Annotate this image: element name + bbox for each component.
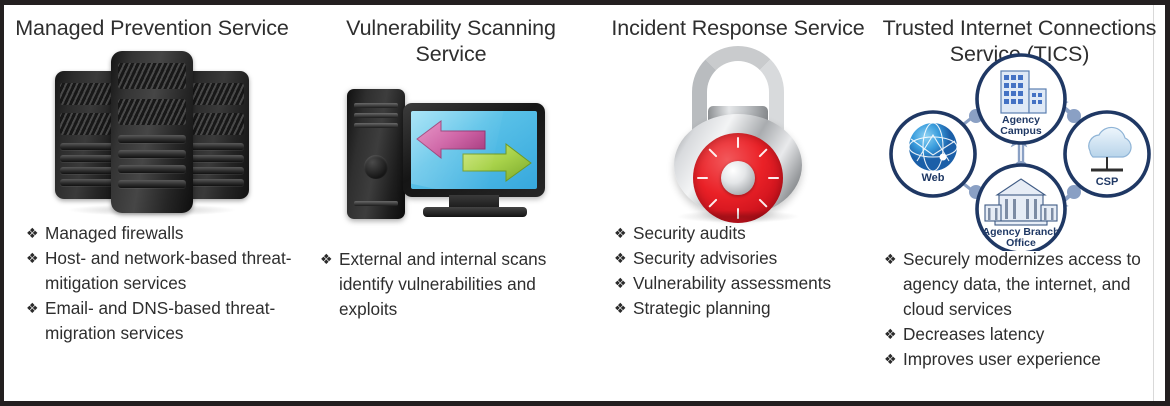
list-item: ❖ Improves user experience bbox=[884, 347, 1161, 372]
bullet-marker-icon: ❖ bbox=[320, 247, 339, 322]
bullet-marker-icon: ❖ bbox=[884, 247, 903, 322]
bullet-text: External and internal scans identify vul… bbox=[339, 247, 598, 322]
list-item: ❖ Security audits bbox=[614, 221, 870, 246]
bullet-text: Decreases latency bbox=[903, 322, 1161, 347]
globe-network-icon bbox=[909, 123, 957, 171]
column-title: Vulnerability Scanning Service bbox=[300, 15, 602, 67]
service-columns: Managed Prevention Service bbox=[4, 5, 1165, 401]
node-label-csp: CSP bbox=[1096, 176, 1119, 188]
dial-knob bbox=[721, 161, 755, 195]
bullet-marker-icon: ❖ bbox=[26, 296, 45, 346]
list-item: ❖ External and internal scans identify v… bbox=[320, 247, 598, 322]
monitor-icon bbox=[403, 103, 545, 197]
list-item: ❖ Host- and network-based threat-mitigat… bbox=[26, 246, 296, 296]
list-item: ❖ Decreases latency bbox=[884, 322, 1161, 347]
list-item: ❖ Security advisories bbox=[614, 246, 870, 271]
bullet-list: ❖ Securely modernizes access to agency d… bbox=[874, 247, 1165, 372]
column-vulnerability-scanning-service: Vulnerability Scanning Service bbox=[300, 5, 602, 401]
infographic-frame: Managed Prevention Service bbox=[0, 0, 1170, 406]
column-trusted-internet-connections-service: Trusted Internet Connections Service (TI… bbox=[874, 5, 1165, 401]
server-tower-center bbox=[111, 51, 193, 213]
bullet-marker-icon: ❖ bbox=[884, 347, 903, 372]
padlock-body bbox=[674, 106, 802, 216]
bullet-marker-icon: ❖ bbox=[614, 296, 633, 321]
monitor-screen bbox=[411, 111, 537, 189]
list-item: ❖ Managed firewalls bbox=[26, 221, 296, 246]
list-item: ❖ Strategic planning bbox=[614, 296, 870, 321]
bullet-text: Strategic planning bbox=[633, 296, 870, 321]
bullet-list: ❖ Security audits ❖ Security advisories … bbox=[602, 221, 874, 321]
column-title: Incident Response Service bbox=[602, 15, 874, 41]
bullet-marker-icon: ❖ bbox=[614, 221, 633, 246]
tics-network-diagram: Agency Campus bbox=[874, 67, 1165, 247]
padlock-icon bbox=[602, 41, 874, 221]
bullet-text: Improves user experience bbox=[903, 347, 1161, 372]
power-knob bbox=[364, 155, 388, 179]
bullet-text: Managed firewalls bbox=[45, 221, 296, 246]
column-title: Managed Prevention Service bbox=[4, 15, 300, 41]
servers-icon bbox=[4, 41, 300, 221]
bullet-marker-icon: ❖ bbox=[884, 322, 903, 347]
bullet-text: Vulnerability assessments bbox=[633, 271, 870, 296]
padlock-drop-shadow bbox=[676, 210, 800, 223]
bullet-text: Email- and DNS-based threat-migration se… bbox=[45, 296, 296, 346]
node-label-agency-campus-line2: Campus bbox=[1000, 125, 1042, 137]
bullet-marker-icon: ❖ bbox=[614, 271, 633, 296]
desktop-computer-icon bbox=[300, 67, 602, 247]
list-item: ❖ Vulnerability assessments bbox=[614, 271, 870, 296]
bullet-marker-icon: ❖ bbox=[26, 221, 45, 246]
bullet-marker-icon: ❖ bbox=[26, 246, 45, 296]
list-item: ❖ Email- and DNS-based threat-migration … bbox=[26, 296, 296, 346]
bullet-text: Security advisories bbox=[633, 246, 870, 271]
bullet-text: Securely modernizes access to agency dat… bbox=[903, 247, 1161, 322]
bullet-list: ❖ Managed firewalls ❖ Host- and network-… bbox=[4, 221, 300, 346]
column-managed-prevention-service: Managed Prevention Service bbox=[4, 5, 300, 401]
bullet-list: ❖ External and internal scans identify v… bbox=[300, 247, 602, 322]
bullet-text: Host- and network-based threat-mitigatio… bbox=[45, 246, 296, 296]
node-label-agency-branch-office-line2: Office bbox=[1006, 237, 1036, 249]
column-incident-response-service: Incident Response Service bbox=[602, 5, 874, 401]
pc-tower-icon bbox=[347, 89, 405, 219]
list-item: ❖ Securely modernizes access to agency d… bbox=[884, 247, 1161, 322]
exchange-arrows-icon bbox=[411, 111, 537, 189]
monitor-base bbox=[423, 207, 527, 217]
node-label-web: Web bbox=[921, 172, 944, 184]
bullet-marker-icon: ❖ bbox=[614, 246, 633, 271]
bullet-text: Security audits bbox=[633, 221, 870, 246]
